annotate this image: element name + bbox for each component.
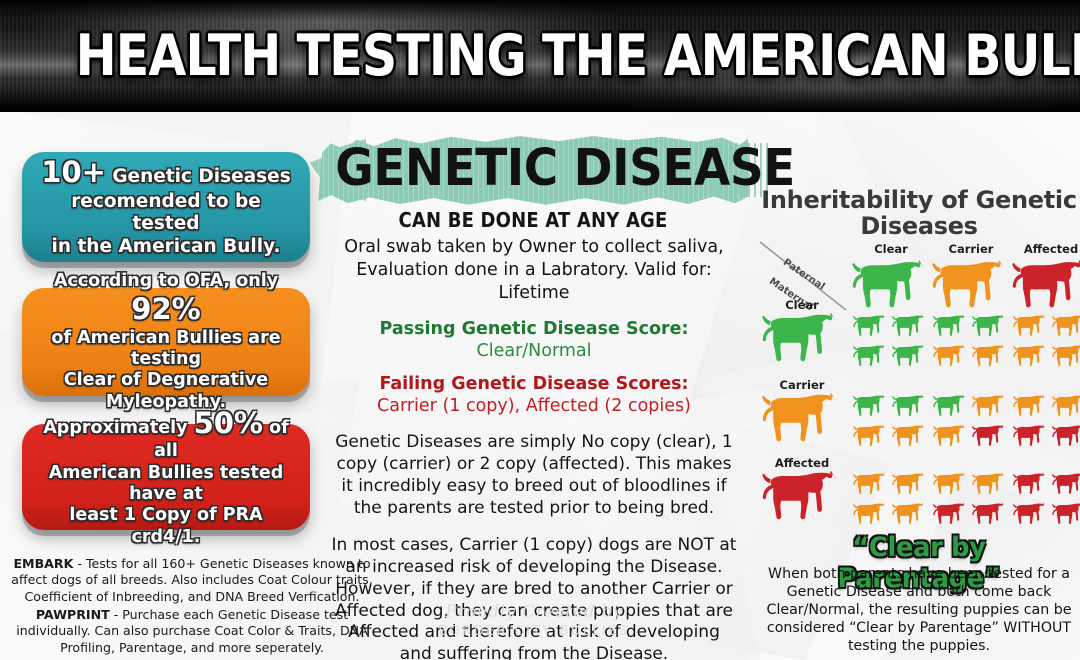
stat-line-2: recomended to be tested bbox=[36, 191, 296, 236]
passing-score-value: Clear/Normal bbox=[330, 340, 738, 362]
punnett-cell-clear-x-affected bbox=[1012, 310, 1080, 376]
maternal-dog-affected-icon bbox=[762, 466, 842, 524]
stat-box-ofa-degenerative-myelopathy: According to OFA, only 92% of American B… bbox=[22, 288, 310, 396]
footnote-pawprint: PAWPRINT - Purchase each Genetic Disease… bbox=[8, 607, 376, 656]
puppy-clear-icon bbox=[892, 392, 927, 418]
footnotes: EMBARK - Tests for all 160+ Genetic Dise… bbox=[8, 556, 376, 658]
punnett-cell-affected-x-affected bbox=[1012, 468, 1080, 534]
stat-line-2: of American Bullies are testing bbox=[36, 328, 296, 371]
punnett-cell-carrier-x-affected bbox=[1012, 390, 1080, 456]
stat-text: Genetic Diseases bbox=[106, 166, 291, 187]
puppy-clear-icon bbox=[892, 312, 927, 338]
page-title: HEALTH TESTING THE AMERICAN BULLY bbox=[76, 23, 1005, 89]
puppy-carrier-icon bbox=[933, 422, 968, 448]
maternal-dog-carrier-icon bbox=[762, 388, 842, 446]
center-lead-text: Oral swab taken by Owner to collect sali… bbox=[330, 236, 738, 304]
puppy-affected-icon bbox=[933, 500, 968, 526]
puppy-affected-icon bbox=[1052, 470, 1080, 496]
puppy-carrier-icon bbox=[853, 422, 888, 448]
puppy-affected-icon bbox=[1052, 422, 1080, 448]
puppy-affected-icon bbox=[1013, 470, 1048, 496]
center-subheading: CAN BE DONE AT ANY AGE bbox=[340, 208, 727, 232]
failing-score-block: Failing Genetic Disease Scores: Carrier … bbox=[330, 373, 738, 417]
stat-line-2: American Bullies tested have at bbox=[36, 463, 296, 506]
stat-text: Approximately bbox=[43, 418, 193, 438]
puppy-carrier-icon bbox=[1052, 312, 1080, 338]
maternal-dog-clear-icon bbox=[762, 308, 842, 366]
puppy-carrier-icon bbox=[1013, 312, 1048, 338]
center-heading-wrap: GENETIC DISEASE bbox=[318, 132, 748, 206]
puppy-carrier-icon bbox=[933, 342, 968, 368]
passing-score-block: Passing Genetic Disease Score: Clear/Nor… bbox=[330, 318, 738, 362]
puppy-affected-icon bbox=[1013, 500, 1048, 526]
stat-big-value: 10+ bbox=[41, 155, 106, 189]
puppy-carrier-icon bbox=[853, 500, 888, 526]
puppy-carrier-icon bbox=[972, 470, 1007, 496]
puppy-carrier-icon bbox=[853, 470, 888, 496]
clear-by-parentage-body: When both parents have been tested for a… bbox=[756, 566, 1080, 655]
puppy-clear-icon bbox=[853, 342, 888, 368]
infographic-page: HEALTH TESTING THE AMERICAN BULLY 10+ Ge… bbox=[0, 0, 1080, 660]
chart-title: Inheritability of Genetic Diseases bbox=[760, 188, 1078, 240]
stat-big-value: 92% bbox=[131, 292, 200, 326]
paternal-dog-clear-icon bbox=[852, 254, 930, 312]
puppy-clear-icon bbox=[892, 342, 927, 368]
credit-brand-name: BORDER CITY BULLIES bbox=[330, 624, 738, 639]
puppy-clear-icon bbox=[853, 392, 888, 418]
punnett-cell-carrier-x-carrier bbox=[932, 390, 1010, 456]
paternal-dog-carrier-icon bbox=[932, 254, 1010, 312]
punnett-cell-carrier-x-clear bbox=[852, 390, 930, 456]
punnett-cell-clear-x-carrier bbox=[932, 310, 1010, 376]
puppy-carrier-icon bbox=[972, 342, 1007, 368]
puppy-carrier-icon bbox=[933, 470, 968, 496]
puppy-affected-icon bbox=[972, 500, 1007, 526]
footnote-label: PAWPRINT bbox=[36, 607, 110, 622]
puppy-carrier-icon bbox=[972, 392, 1007, 418]
stat-box-pra-crd4: Approximately 50% of all American Bullie… bbox=[22, 424, 310, 530]
center-paragraph-2: In most cases, Carrier (1 copy) dogs are… bbox=[330, 535, 738, 660]
stat-text: According to OFA, only bbox=[54, 271, 278, 291]
puppy-clear-icon bbox=[933, 392, 968, 418]
paternal-dog-affected-icon bbox=[1012, 254, 1080, 312]
puppy-carrier-icon bbox=[1013, 392, 1048, 418]
puppy-carrier-icon bbox=[892, 470, 927, 496]
center-heading: GENETIC DISEASE bbox=[335, 132, 731, 206]
puppy-carrier-icon bbox=[892, 422, 927, 448]
puppy-clear-icon bbox=[972, 312, 1007, 338]
inheritance-grid: PaternalMaternalClearCarrierAffectedClea… bbox=[760, 242, 1078, 540]
puppy-carrier-icon bbox=[1052, 342, 1080, 368]
stat-box-genetic-diseases-count: 10+ Genetic Diseases recomended to be te… bbox=[22, 152, 310, 262]
punnett-cell-clear-x-clear bbox=[852, 310, 930, 376]
puppy-affected-icon bbox=[1052, 500, 1080, 526]
header-banner: HEALTH TESTING THE AMERICAN BULLY bbox=[0, 0, 1080, 112]
puppy-affected-icon bbox=[1013, 422, 1048, 448]
puppy-clear-icon bbox=[853, 312, 888, 338]
stat-big-value: 50% bbox=[194, 406, 263, 440]
creator-credit: Proudly Created by BORDER CITY BULLIES bbox=[330, 602, 738, 639]
passing-score-label: Passing Genetic Disease Score: bbox=[330, 318, 738, 340]
puppy-carrier-icon bbox=[1013, 342, 1048, 368]
stat-line-3: in the American Bully. bbox=[36, 236, 296, 259]
failing-score-label: Failing Genetic Disease Scores: bbox=[330, 373, 738, 395]
puppy-affected-icon bbox=[972, 422, 1007, 448]
punnett-cell-affected-x-clear bbox=[852, 468, 930, 534]
puppy-carrier-icon bbox=[892, 500, 927, 526]
punnett-cell-affected-x-carrier bbox=[932, 468, 1010, 534]
center-paragraph-1: Genetic Diseases are simply No copy (cle… bbox=[330, 432, 738, 519]
center-body: Oral swab taken by Owner to collect sali… bbox=[330, 236, 738, 660]
footnote-label: EMBARK bbox=[13, 556, 73, 571]
footnote-embark: EMBARK - Tests for all 160+ Genetic Dise… bbox=[8, 556, 376, 605]
puppy-clear-icon bbox=[933, 312, 968, 338]
puppy-carrier-icon bbox=[1052, 392, 1080, 418]
failing-score-value: Carrier (1 copy), Affected (2 copies) bbox=[330, 395, 738, 417]
stat-line-3: least 1 Copy of PRA crd4/1. bbox=[36, 505, 296, 548]
credit-script-text: Proudly Created by bbox=[330, 602, 738, 622]
